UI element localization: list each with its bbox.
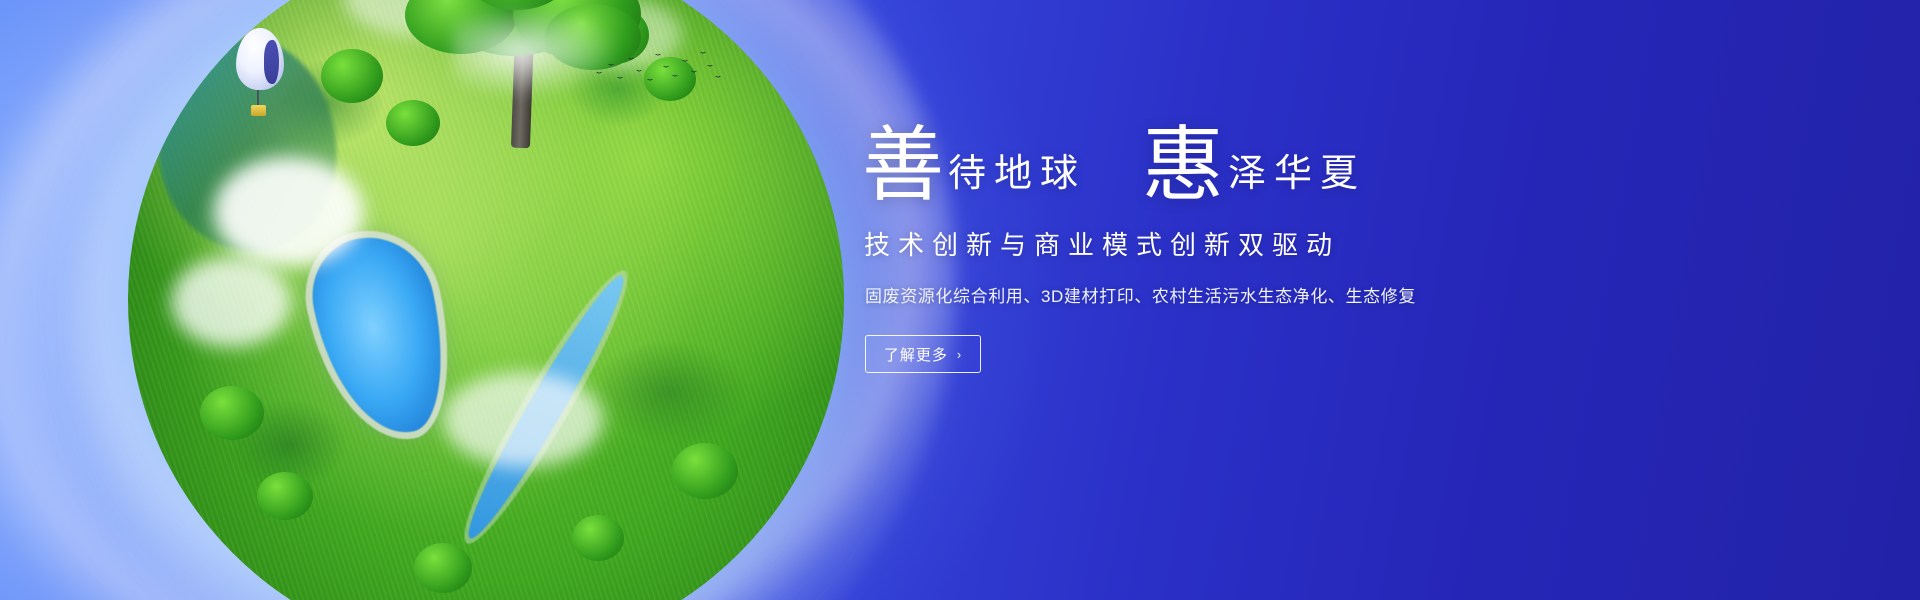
- balloon-basket: [251, 105, 266, 116]
- tree-canopy-blob: [572, 515, 624, 561]
- headline-lead-2: 惠: [1142, 128, 1224, 203]
- balloon-stripe: [264, 40, 279, 84]
- balloon-rope: [257, 90, 259, 106]
- learn-more-button[interactable]: 了解更多 ›: [865, 335, 981, 373]
- headline-lead-1: 善: [862, 128, 944, 203]
- tree-canopy-blob: [672, 443, 738, 499]
- cloud-icon: [171, 257, 291, 347]
- headline-rest-2: 泽华夏: [1228, 155, 1366, 203]
- hot-air-balloon-icon: [236, 28, 284, 120]
- chevron-right-icon: ›: [957, 348, 962, 361]
- cloud-icon: [443, 372, 603, 467]
- hero-content: 善 待地球 惠 泽华夏 技术创新与商业模式创新双驱动 固废资源化综合利用、3D建…: [862, 128, 1762, 373]
- page-title: 善 待地球 惠 泽华夏: [862, 128, 1762, 203]
- bird-flock-icon: [592, 46, 722, 92]
- tree-canopy-blob: [257, 472, 313, 520]
- tree-canopy-blob: [200, 386, 264, 440]
- balloon-envelope: [236, 28, 284, 90]
- hero-description: 固废资源化综合利用、3D建材打印、农村生活污水生态净化、生态修复: [865, 282, 1762, 307]
- cloud-icon: [214, 157, 364, 267]
- hero-banner: 善 待地球 惠 泽华夏 技术创新与商业模式创新双驱动 固废资源化综合利用、3D建…: [0, 0, 1920, 600]
- headline-rest-1: 待地球: [948, 155, 1086, 203]
- learn-more-label: 了解更多: [884, 344, 948, 365]
- hero-subtitle: 技术创新与商业模式创新双驱动: [864, 225, 1762, 262]
